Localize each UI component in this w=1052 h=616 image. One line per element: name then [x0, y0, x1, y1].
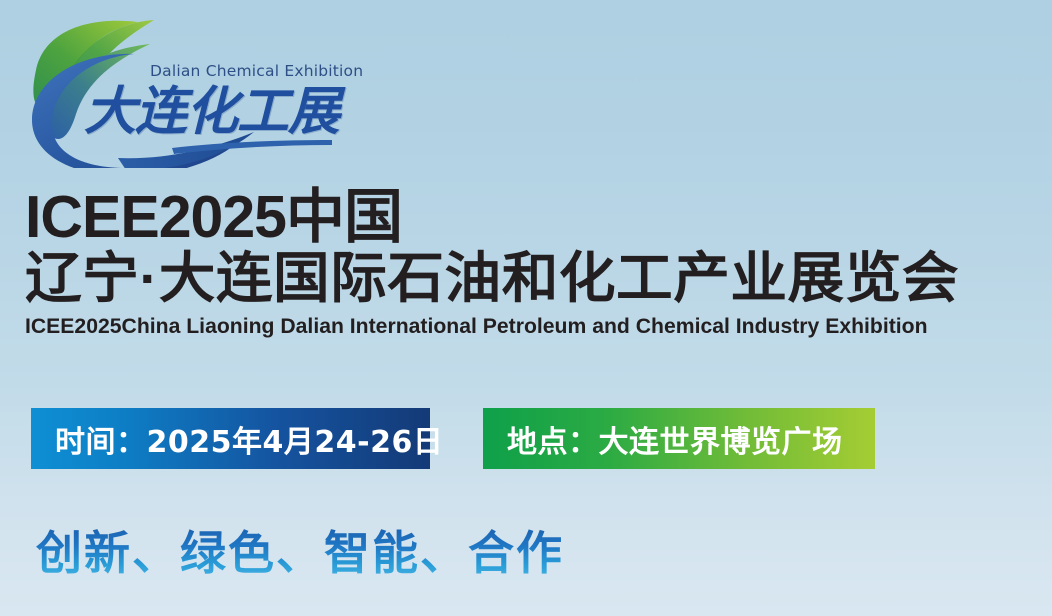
logo-chinese-name: 大连化工展 [84, 86, 339, 138]
exhibition-poster: Dalian Chemical Exhibition 大连化工展 ICEE202… [0, 0, 1052, 616]
title-line-1: ICEE2025中国 [25, 186, 1035, 248]
time-badge-label: 时间：2025年4月24-26日 [55, 417, 443, 461]
page-title: ICEE2025中国 辽宁·大连国际石油和化工产业展览会 ICEE2025Chi… [25, 186, 1035, 338]
exhibition-logo: Dalian Chemical Exhibition 大连化工展 [22, 8, 342, 168]
slogan-text: 创新、绿色、智能、合作 [36, 524, 564, 582]
venue-badge: 地点：大连世界博览广场 [483, 408, 875, 469]
time-badge: 时间：2025年4月24-26日 [31, 408, 430, 469]
title-english-subtitle: ICEE2025China Liaoning Dalian Internatio… [25, 314, 1020, 338]
venue-badge-label: 地点：大连世界博览广场 [507, 417, 843, 461]
title-line-2: 辽宁·大连国际石油和化工产业展览会 [25, 248, 1052, 308]
logo-english-name: Dalian Chemical Exhibition [150, 62, 363, 80]
